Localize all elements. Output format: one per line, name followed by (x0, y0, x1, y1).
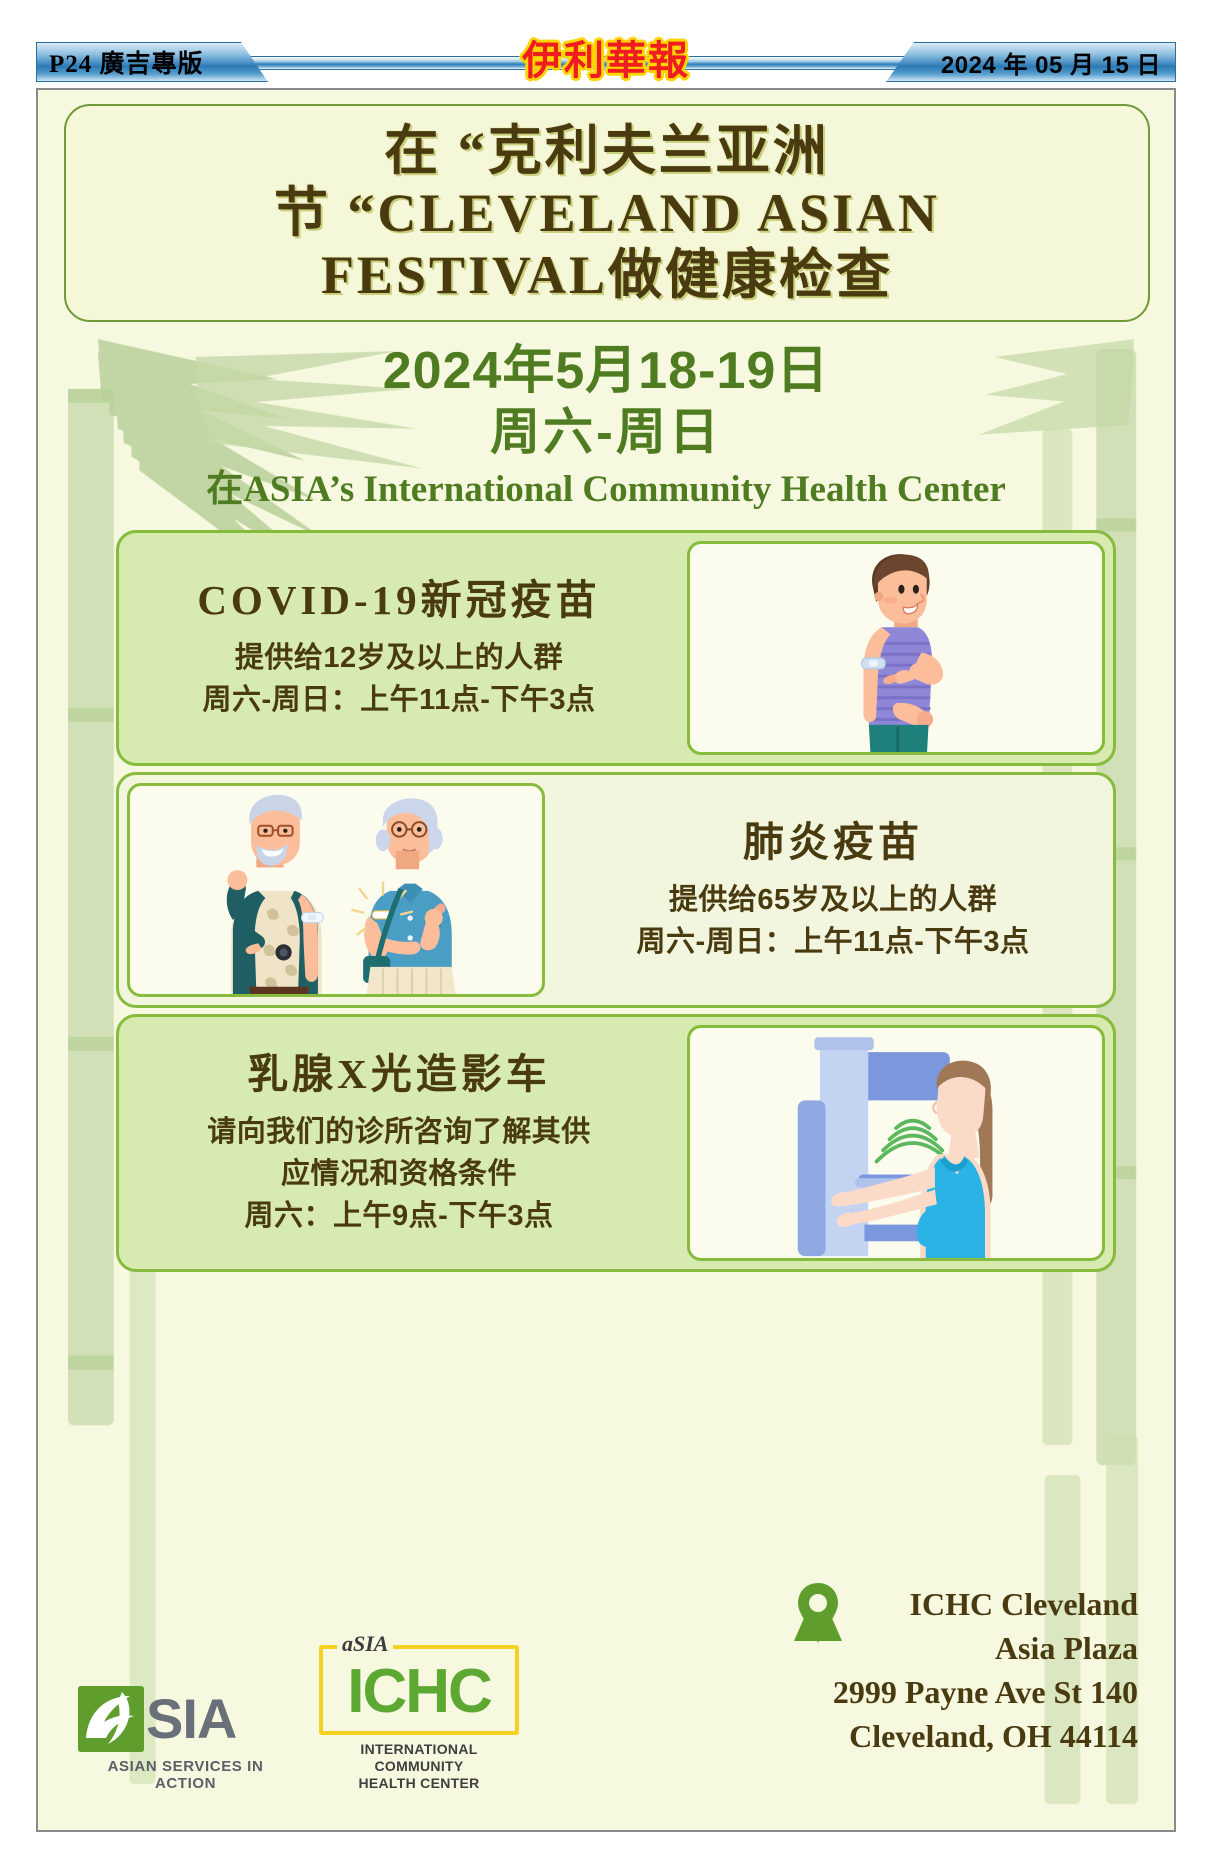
advertisement-poster: 在 “克利夫兰亚洲 节 “CLEVELAND ASIAN FESTIVAL做健康… (36, 88, 1176, 1832)
mammography-info-line-1: 请向我们的诊所咨询了解其供 (207, 1111, 591, 1153)
event-date: 2024年5月18-19日 (38, 340, 1174, 402)
service-card-covid[interactable]: COVID-19新冠疫苗 提供给12岁及以上的人群 周六-周日：上午11点-下午… (116, 530, 1116, 766)
ichc-tagline-line-1: INTERNATIONAL COMMUNITY (319, 1741, 519, 1775)
elderly-couple-illustration (127, 783, 545, 997)
ichc-logo-word: ICHC (329, 1661, 509, 1723)
mammography-hours-line: 周六：上午9点-下午3点 (207, 1195, 591, 1237)
mammography-info-line-2: 应情况和资格条件 (207, 1153, 591, 1195)
service-card-mammography-body: 请向我们的诊所咨询了解其供 应情况和资格条件 周六：上午9点-下午3点 (207, 1111, 591, 1237)
asia-logo-tagline: ASIAN SERVICES IN ACTION (78, 1758, 293, 1792)
address-line-4: Cleveland, OH 44114 (833, 1714, 1138, 1758)
event-date-block: 2024年5月18-19日 周六-周日 (38, 340, 1174, 462)
ichc-logo: aSIA ICHC INTERNATIONAL COMMUNITY HEALTH… (319, 1635, 519, 1792)
title-line-3: FESTIVAL做健康检查 (321, 244, 893, 306)
asia-swirl-icon (78, 1686, 144, 1752)
poster-title-box: 在 “克利夫兰亚洲 节 “CLEVELAND ASIAN FESTIVAL做健康… (64, 104, 1150, 322)
service-card-covid-text: COVID-19新冠疫苗 提供给12岁及以上的人群 周六-周日：上午11点-下午… (119, 533, 679, 763)
service-card-pneumonia-body: 提供给65岁及以上的人群 周六-周日：上午11点-下午3点 (636, 879, 1029, 963)
address-line-1: ICHC Cleveland (833, 1582, 1138, 1626)
clinic-address: ICHC Cleveland Asia Plaza 2999 Payne Ave… (833, 1582, 1138, 1758)
service-card-mammography-text: 乳腺X光造影车 请向我们的诊所咨询了解其供 应情况和资格条件 周六：上午9点-下… (119, 1017, 679, 1269)
address-line-3: 2999 Payne Ave St 140 (833, 1670, 1138, 1714)
covid-eligibility-line: 提供给12岁及以上的人群 (202, 637, 595, 679)
newspaper-page: P24 廣吉專版 伊利華報 2024 年 05 月 15 日 (0, 0, 1210, 1870)
poster-footer: SIA ASIAN SERVICES IN ACTION aSIA ICHC I… (38, 1520, 1174, 1830)
newspaper-header: P24 廣吉專版 伊利華報 2024 年 05 月 15 日 (36, 42, 1176, 82)
poster-title: 在 “克利夫兰亚洲 节 “CLEVELAND ASIAN FESTIVAL做健康… (66, 106, 1148, 320)
event-weekdays: 周六-周日 (38, 402, 1174, 462)
service-card-pneumonia[interactable]: 肺炎疫苗 提供给65岁及以上的人群 周六-周日：上午11点-下午3点 (116, 772, 1116, 1008)
title-line-2: 节 “CLEVELAND ASIAN (274, 182, 940, 244)
service-card-pneumonia-text: 肺炎疫苗 提供给65岁及以上的人群 周六-周日：上午11点-下午3点 (553, 775, 1113, 1005)
issue-date-tab: 2024 年 05 月 15 日 (886, 42, 1176, 82)
pneumonia-hours-line: 周六-周日：上午11点-下午3点 (636, 921, 1029, 963)
asia-logo-word: SIA (146, 1690, 236, 1748)
service-card-mammography[interactable]: 乳腺X光造影车 请向我们的诊所咨询了解其供 应情况和资格条件 周六：上午9点-下… (116, 1014, 1116, 1272)
ichc-logo-tagline: INTERNATIONAL COMMUNITY HEALTH CENTER (319, 1741, 519, 1792)
issue-date: 2024 年 05 月 15 日 (941, 45, 1175, 80)
man-with-bandage-illustration (687, 541, 1105, 755)
ichc-logo-superscript: aSIA (337, 1631, 393, 1657)
service-card-covid-title: COVID-19新冠疫苗 (197, 575, 600, 625)
pneumonia-eligibility-line: 提供给65岁及以上的人群 (636, 879, 1029, 921)
covid-hours-line: 周六-周日：上午11点-下午3点 (202, 679, 595, 721)
asia-logo: SIA ASIAN SERVICES IN ACTION (78, 1686, 293, 1792)
ichc-logo-box: ICHC (319, 1645, 519, 1735)
address-line-2: Asia Plaza (833, 1626, 1138, 1670)
asia-logo-mark: SIA (78, 1686, 293, 1752)
service-card-mammography-title: 乳腺X光造影车 (247, 1049, 551, 1099)
event-venue: 在ASIA’s International Community Health C… (38, 468, 1174, 512)
title-line-1: 在 “克利夫兰亚洲 (384, 120, 830, 182)
mammography-machine-illustration (687, 1025, 1105, 1261)
service-card-covid-body: 提供给12岁及以上的人群 周六-周日：上午11点-下午3点 (202, 637, 595, 721)
partner-logos: SIA ASIAN SERVICES IN ACTION aSIA ICHC I… (78, 1635, 519, 1792)
service-card-pneumonia-title: 肺炎疫苗 (743, 817, 923, 867)
ichc-tagline-line-2: HEALTH CENTER (319, 1775, 519, 1792)
